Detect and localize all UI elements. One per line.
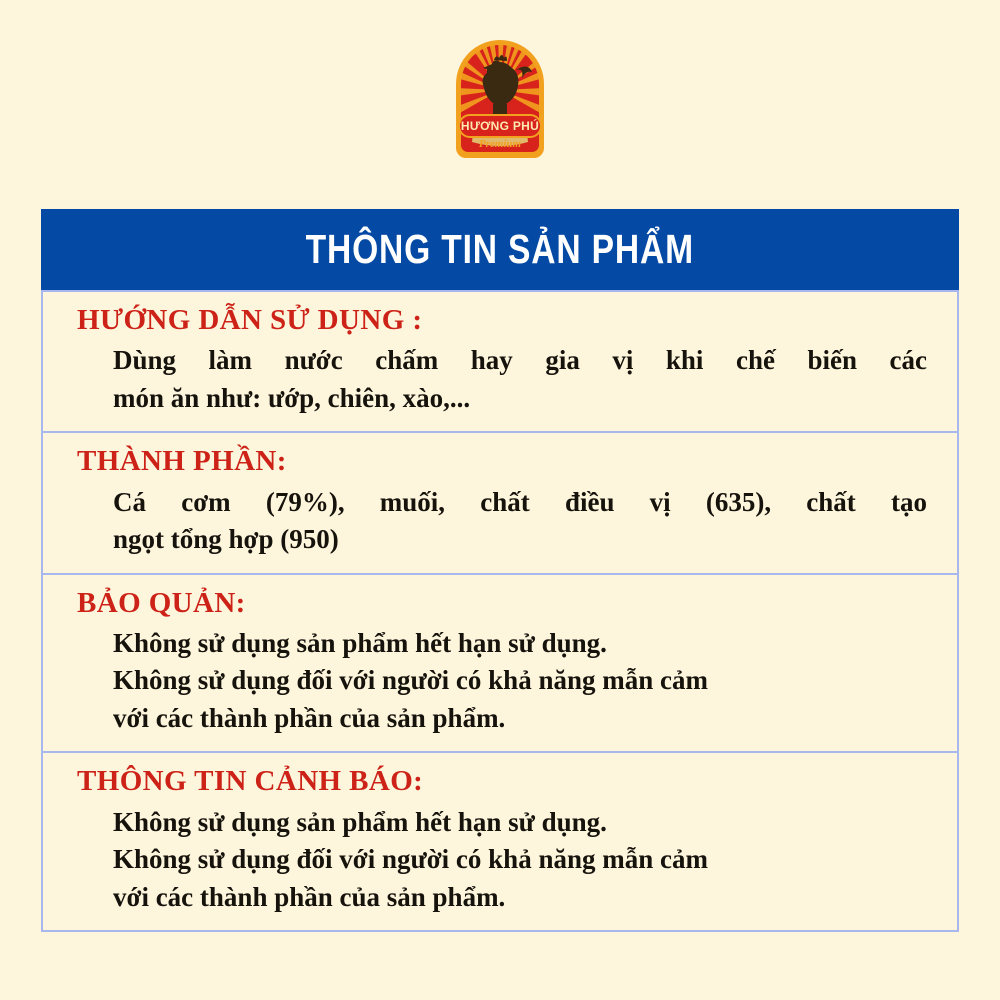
body-line: Dùng làm nước chấm hay gia vị khi chế bi… bbox=[113, 342, 927, 380]
body-line: Không sử dụng sản phẩm hết hạn sử dụng. bbox=[113, 804, 927, 842]
section-heading: BẢO QUẢN: bbox=[77, 585, 935, 621]
body-line: Cá cơm (79%), muối, chất điều vị (635), … bbox=[113, 484, 927, 522]
logo-brand-ribbon: HƯƠNG PHÚ bbox=[458, 114, 542, 138]
product-info-page: HƯƠNG PHÚ Premium THÔNG TIN SẢN PHẨM HƯỚ… bbox=[0, 0, 1000, 1000]
section-huong-dan-su-dung: HƯỚNG DẪN SỬ DỤNG : Dùng làm nước chấm h… bbox=[43, 290, 957, 431]
body-line: Không sử dụng đối với người có khả năng … bbox=[113, 841, 927, 879]
section-heading: HƯỚNG DẪN SỬ DỤNG : bbox=[77, 302, 935, 338]
product-info-banner: THÔNG TIN SẢN PHẨM bbox=[41, 209, 959, 290]
body-line: với các thành phần của sản phẩm. bbox=[113, 879, 927, 917]
section-body: Không sử dụng sản phẩm hết hạn sử dụng. … bbox=[113, 625, 927, 738]
section-body: Cá cơm (79%), muối, chất điều vị (635), … bbox=[113, 484, 927, 559]
logo-tagline-text: Premium bbox=[454, 139, 546, 150]
banner-title-text: THÔNG TIN SẢN PHẨM bbox=[306, 229, 694, 270]
body-line: Không sử dụng sản phẩm hết hạn sử dụng. bbox=[113, 625, 927, 663]
section-thanh-phan: THÀNH PHẦN: Cá cơm (79%), muối, chất điề… bbox=[43, 431, 957, 572]
section-body: Không sử dụng sản phẩm hết hạn sử dụng. … bbox=[113, 804, 927, 917]
body-line: với các thành phần của sản phẩm. bbox=[113, 700, 927, 738]
body-line: món ăn như: ướp, chiên, xào,... bbox=[113, 380, 927, 418]
section-heading: THÀNH PHẦN: bbox=[77, 443, 935, 479]
body-line: Không sử dụng đối với người có khả năng … bbox=[113, 662, 927, 700]
body-line: ngọt tổng hợp (950) bbox=[113, 521, 927, 559]
product-info-box: THÔNG TIN SẢN PHẨM HƯỚNG DẪN SỬ DỤNG : D… bbox=[41, 209, 959, 932]
section-body: Dùng làm nước chấm hay gia vị khi chế bi… bbox=[113, 342, 927, 417]
brand-logo: HƯƠNG PHÚ Premium bbox=[0, 38, 1000, 178]
section-bao-quan: BẢO QUẢN: Không sử dụng sản phẩm hết hạn… bbox=[43, 573, 957, 752]
rooster-emblem-logo: HƯƠNG PHÚ Premium bbox=[454, 38, 546, 166]
section-thong-tin-canh-bao: THÔNG TIN CẢNH BÁO: Không sử dụng sản ph… bbox=[43, 751, 957, 930]
section-heading: THÔNG TIN CẢNH BÁO: bbox=[77, 763, 935, 799]
logo-brand-text: HƯƠNG PHÚ bbox=[461, 120, 539, 132]
